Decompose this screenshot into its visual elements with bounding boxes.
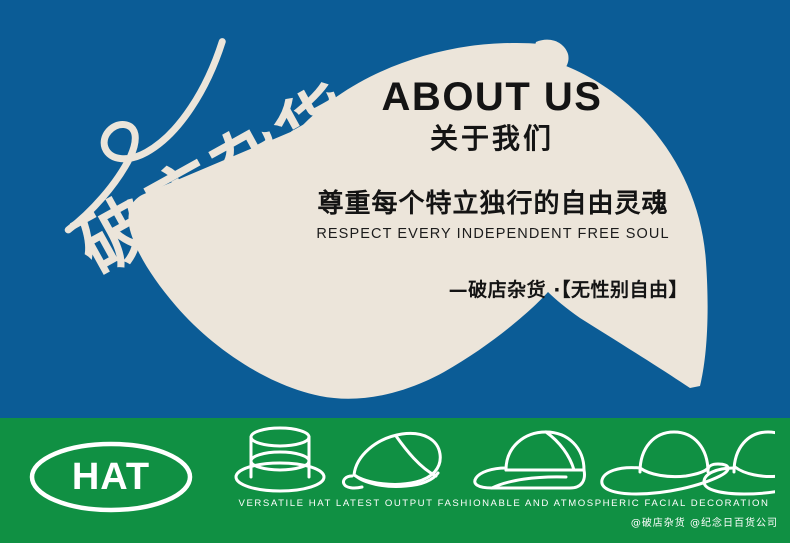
slogan-chinese: 尊重每个特立独行的自由灵魂 (268, 190, 718, 220)
poster-canvas: 破店杂货 ABOUT US 关于我们 尊重每个特立独行的自由灵魂 RESPECT… (0, 0, 790, 543)
hat-badge-label: HAT (28, 440, 194, 514)
slogan-block: 尊重每个特立独行的自由灵魂 RESPECT EVERY INDEPENDENT … (268, 190, 718, 242)
flat-cap-icon (343, 433, 440, 488)
baseball-cap-icon (475, 432, 585, 488)
cowboy-hat-icon (602, 432, 728, 494)
page-title: ABOUT US (282, 76, 702, 118)
top-hat-icon (236, 428, 324, 491)
band-credits: @破店杂货 @纪念日百货公司 (380, 514, 778, 529)
hat-badge: HAT (28, 440, 194, 514)
hat-icons-row (230, 424, 775, 496)
band-tagline: VERSATILE HAT LATEST OUTPUT FASHIONABLE … (228, 498, 780, 509)
attribution-text: —破店杂货 ·【无性别自由】 (268, 275, 688, 302)
blue-background-panel: 破店杂货 ABOUT US 关于我们 尊重每个特立独行的自由灵魂 RESPECT… (0, 0, 790, 418)
slogan-english: RESPECT EVERY INDEPENDENT FREE SOUL (268, 226, 718, 242)
about-heading-block: ABOUT US 关于我们 (282, 76, 702, 155)
attribution-block: —破店杂货 ·【无性别自由】 (268, 275, 688, 302)
page-title-cn: 关于我们 (282, 124, 702, 155)
